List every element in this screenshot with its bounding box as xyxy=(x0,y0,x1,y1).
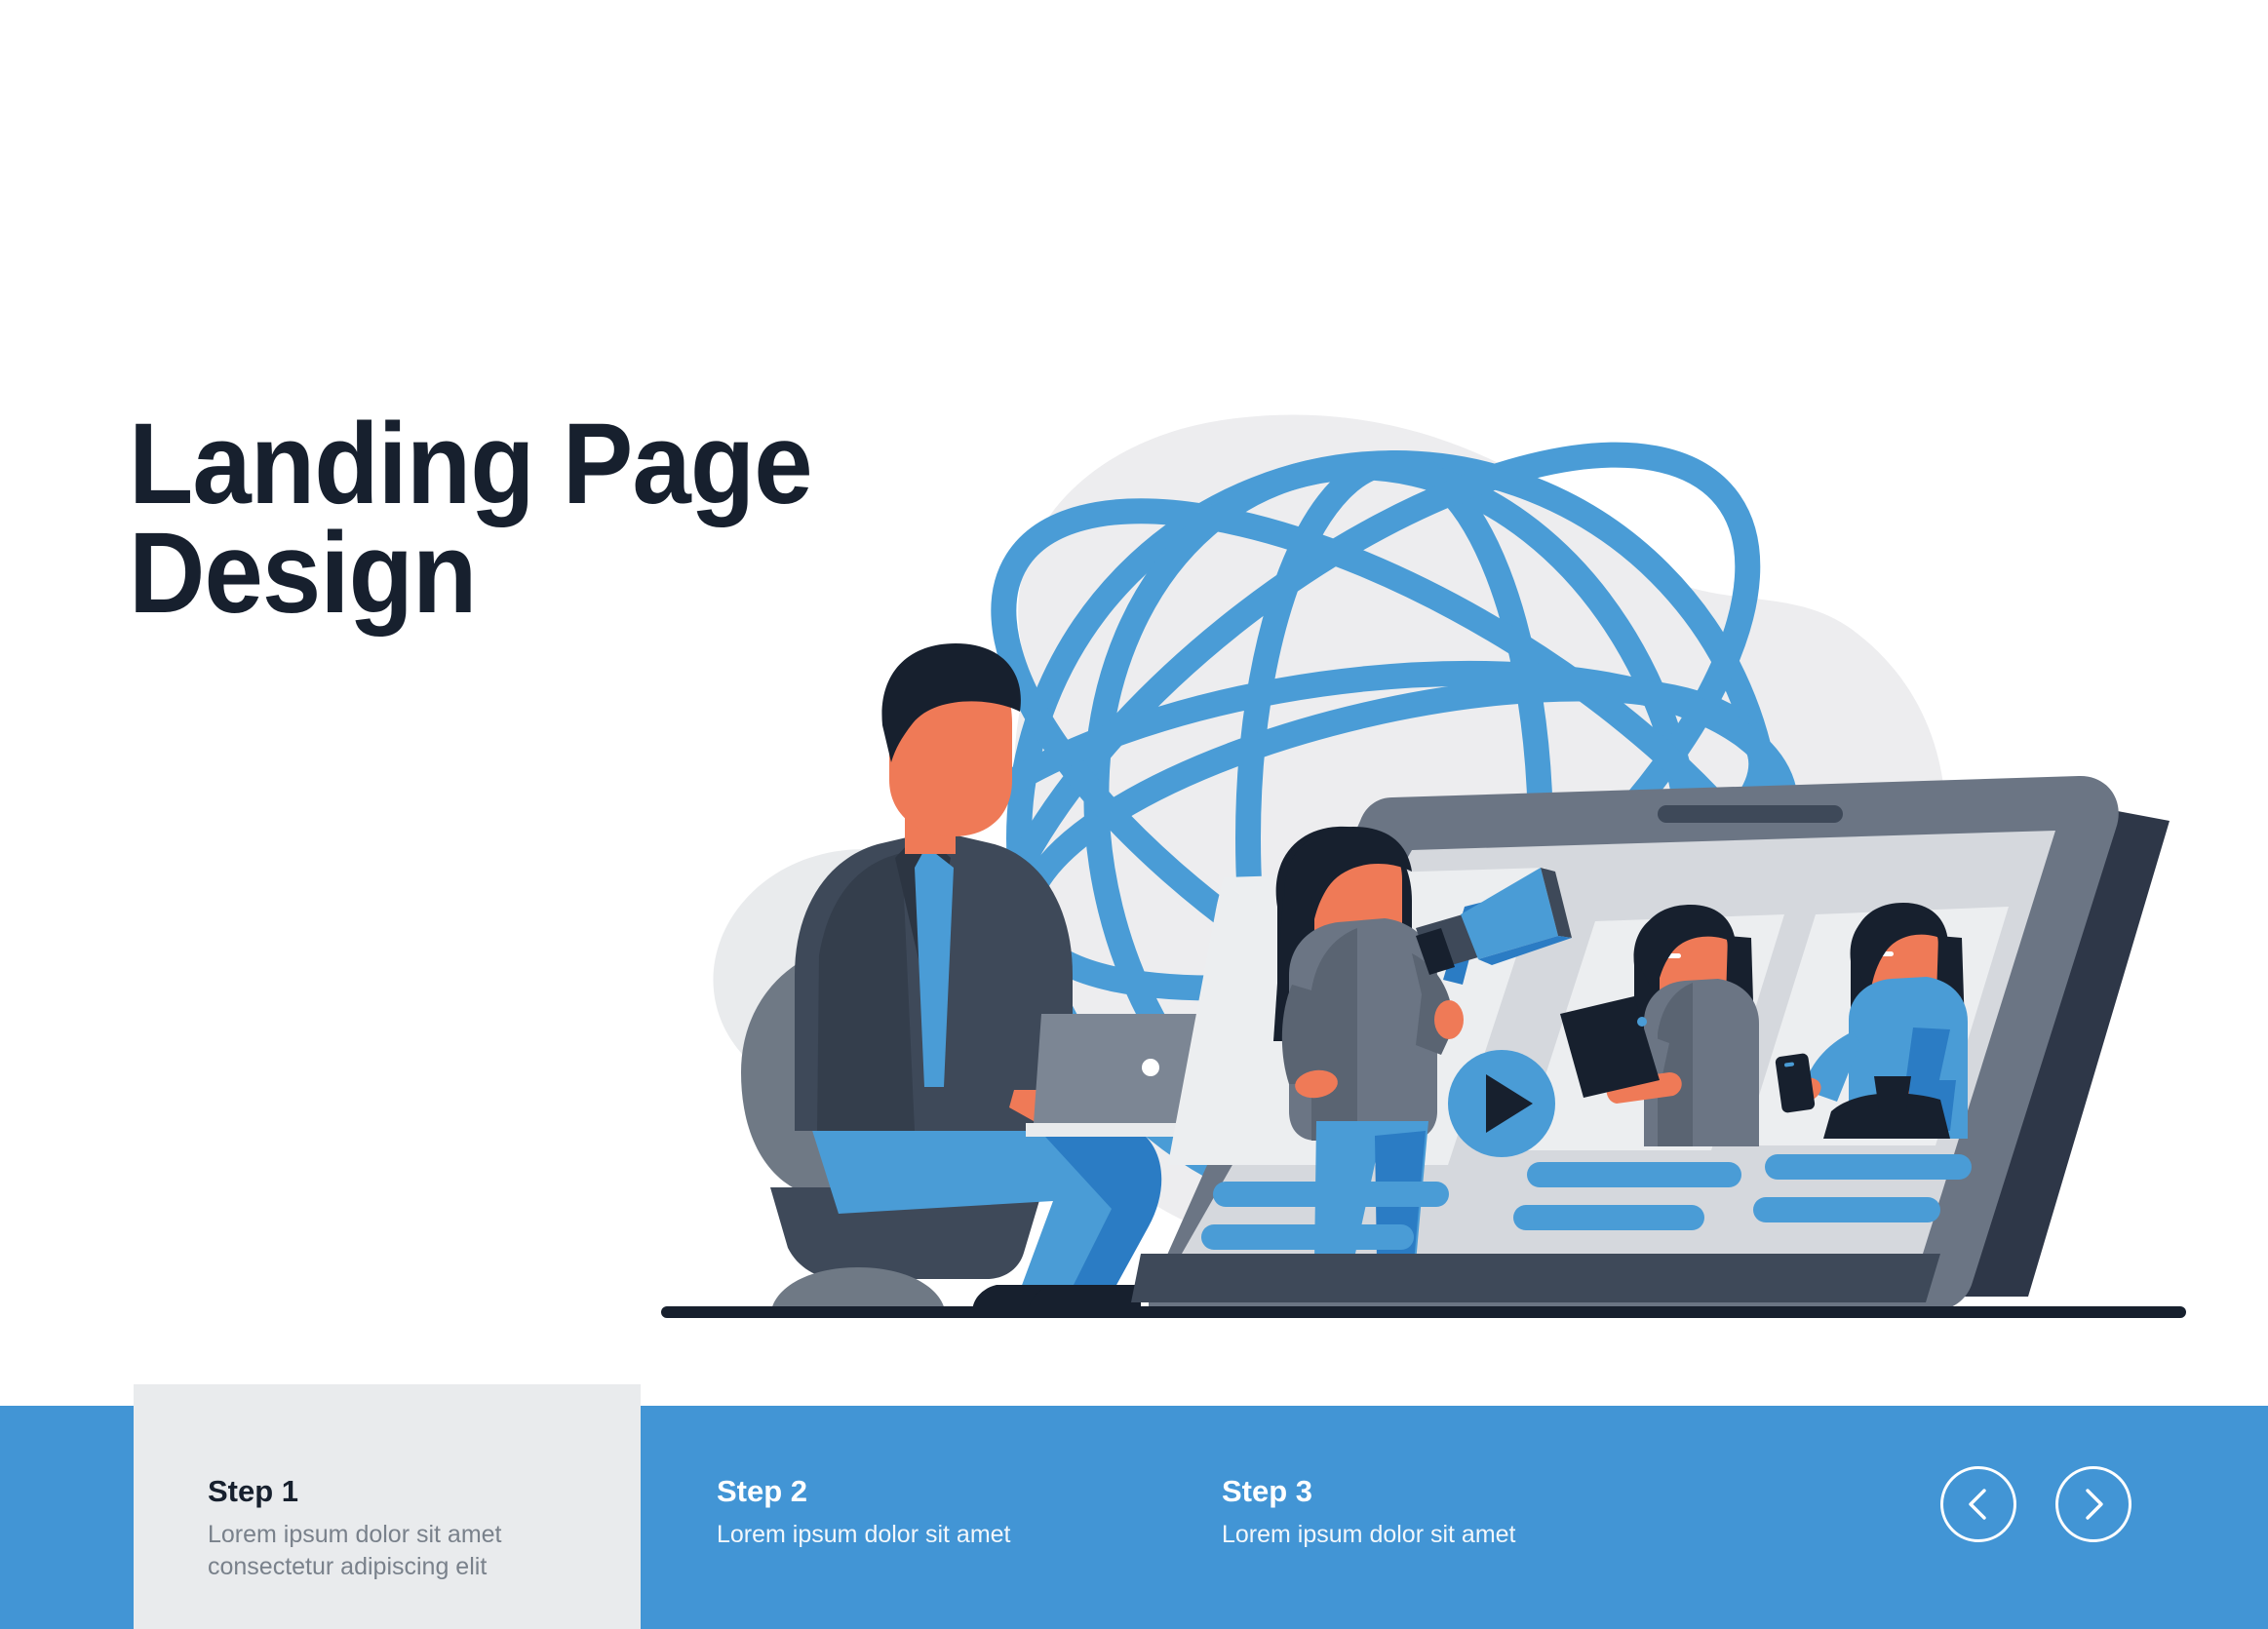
page-title: Landing Page Design xyxy=(129,409,1026,628)
step-1-description: Lorem ipsum dolor sit amet consectetur a… xyxy=(208,1519,617,1583)
step-item-1[interactable]: Step 1 Lorem ipsum dolor sit amet consec… xyxy=(208,1474,617,1583)
ground-line xyxy=(661,1306,2186,1318)
placeholder-bar xyxy=(1201,1224,1414,1250)
coffee-cup-icon xyxy=(1874,1076,1911,1109)
landing-page-canvas: Landing Page Design Step 1 Lorem ipsum d… xyxy=(0,0,2268,1629)
step-3-title: Step 3 xyxy=(1222,1474,1651,1509)
placeholder-bar xyxy=(1765,1154,1972,1180)
play-button-icon xyxy=(1448,1050,1555,1157)
chevron-right-icon xyxy=(2079,1486,2108,1523)
next-button[interactable] xyxy=(2055,1466,2131,1542)
step-1-title: Step 1 xyxy=(208,1474,617,1509)
placeholder-bar xyxy=(1513,1205,1704,1230)
step-2-description: Lorem ipsum dolor sit amet xyxy=(717,1519,1146,1551)
placeholder-bar xyxy=(1213,1182,1449,1207)
prev-button[interactable] xyxy=(1940,1466,2016,1542)
laptop-device-icon xyxy=(1131,776,2170,1310)
placeholder-bar xyxy=(1527,1162,1741,1187)
step-item-3[interactable]: Step 3 Lorem ipsum dolor sit amet xyxy=(1222,1474,1651,1551)
placeholder-bar xyxy=(1753,1197,1940,1222)
chevron-left-icon xyxy=(1964,1486,1993,1523)
hero-illustration xyxy=(0,0,2268,1384)
step-3-description: Lorem ipsum dolor sit amet xyxy=(1222,1519,1651,1551)
step-item-2[interactable]: Step 2 Lorem ipsum dolor sit amet xyxy=(717,1474,1146,1551)
carousel-nav xyxy=(1940,1466,2131,1542)
step-2-title: Step 2 xyxy=(717,1474,1146,1509)
